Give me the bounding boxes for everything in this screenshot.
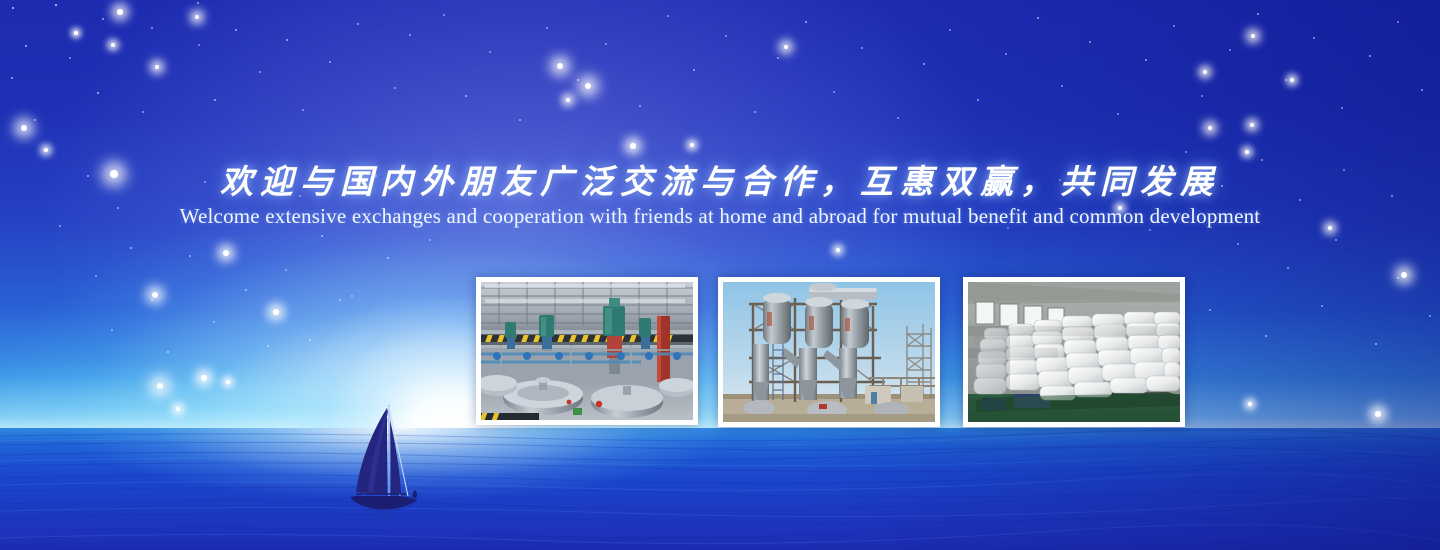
photo-workshop-reactors [481, 282, 693, 420]
page-subtitle: Welcome extensive exchanges and cooperat… [0, 204, 1440, 229]
ocean-background [0, 428, 1440, 550]
photo-card-workshop-reactors[interactable] [476, 277, 698, 425]
photo-card-warehouse-bags[interactable] [963, 277, 1185, 427]
page-title: 欢迎与国内外朋友广泛交流与合作，互惠双赢，共同发展 [0, 155, 1440, 203]
photo-evaporation-towers [723, 282, 935, 422]
banner-stage: 欢迎与国内外朋友广泛交流与合作，互惠双赢，共同发展 Welcome extens… [0, 0, 1440, 550]
photo-warehouse-bags [968, 282, 1180, 422]
sailboat-icon [338, 400, 430, 540]
photo-card-evaporation-towers[interactable] [718, 277, 940, 427]
